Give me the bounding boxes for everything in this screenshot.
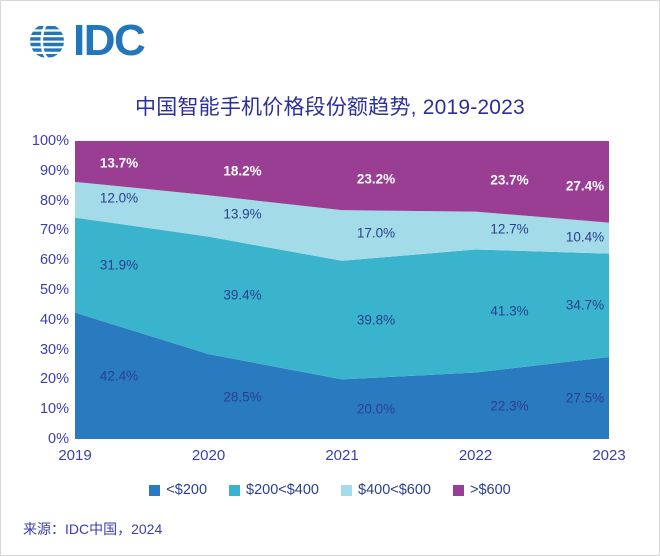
legend: <$200$200<$400$400<$600>$600 (1, 482, 659, 498)
chart-title: 中国智能手机价格段份额趋势, 2019-2023 (1, 91, 659, 121)
stacked-area-svg (75, 141, 609, 439)
legend-swatch-icon (341, 485, 352, 496)
legend-swatch-icon (453, 485, 464, 496)
y-axis: 100%90%80%70%60%50%40%30%20%10%0% (15, 129, 69, 439)
legend-item[interactable]: >$600 (453, 482, 511, 498)
legend-label: >$600 (470, 482, 511, 498)
legend-swatch-icon (149, 485, 160, 496)
legend-item[interactable]: <$200 (149, 482, 207, 498)
x-tick-label: 2021 (325, 447, 358, 464)
legend-label: $200<$400 (246, 482, 319, 498)
plot-area: 100%90%80%70%60%50%40%30%20%10%0% 42.4%2… (1, 129, 660, 459)
source-note: 来源：IDC中国，2024 (23, 519, 162, 539)
legend-label: $400<$600 (358, 482, 431, 498)
legend-swatch-icon (229, 485, 240, 496)
x-tick-label: 2022 (459, 447, 492, 464)
y-tick-label: 60% (40, 252, 69, 268)
y-tick-label: 100% (32, 133, 69, 149)
x-tick-label: 2020 (192, 447, 225, 464)
y-tick-label: 0% (48, 431, 69, 447)
globe-stripes-icon (25, 19, 69, 63)
y-tick-label: 30% (40, 342, 69, 358)
x-tick-label: 2023 (592, 447, 625, 464)
legend-item[interactable]: $200<$400 (229, 482, 319, 498)
chart-page: IDC 中国智能手机价格段份额趋势, 2019-2023 100%90%80%7… (0, 0, 660, 556)
y-tick-label: 80% (40, 193, 69, 209)
legend-label: <$200 (166, 482, 207, 498)
y-tick-label: 40% (40, 312, 69, 328)
idc-logo: IDC (25, 19, 144, 63)
x-tick-label: 2019 (58, 447, 91, 464)
legend-item[interactable]: $400<$600 (341, 482, 431, 498)
x-axis: 20192020202120222023 (75, 447, 609, 471)
idc-wordmark: IDC (73, 19, 144, 63)
y-tick-label: 10% (40, 401, 69, 417)
y-tick-label: 50% (40, 282, 69, 298)
y-tick-label: 20% (40, 371, 69, 387)
y-tick-label: 90% (40, 163, 69, 179)
y-tick-label: 70% (40, 222, 69, 238)
